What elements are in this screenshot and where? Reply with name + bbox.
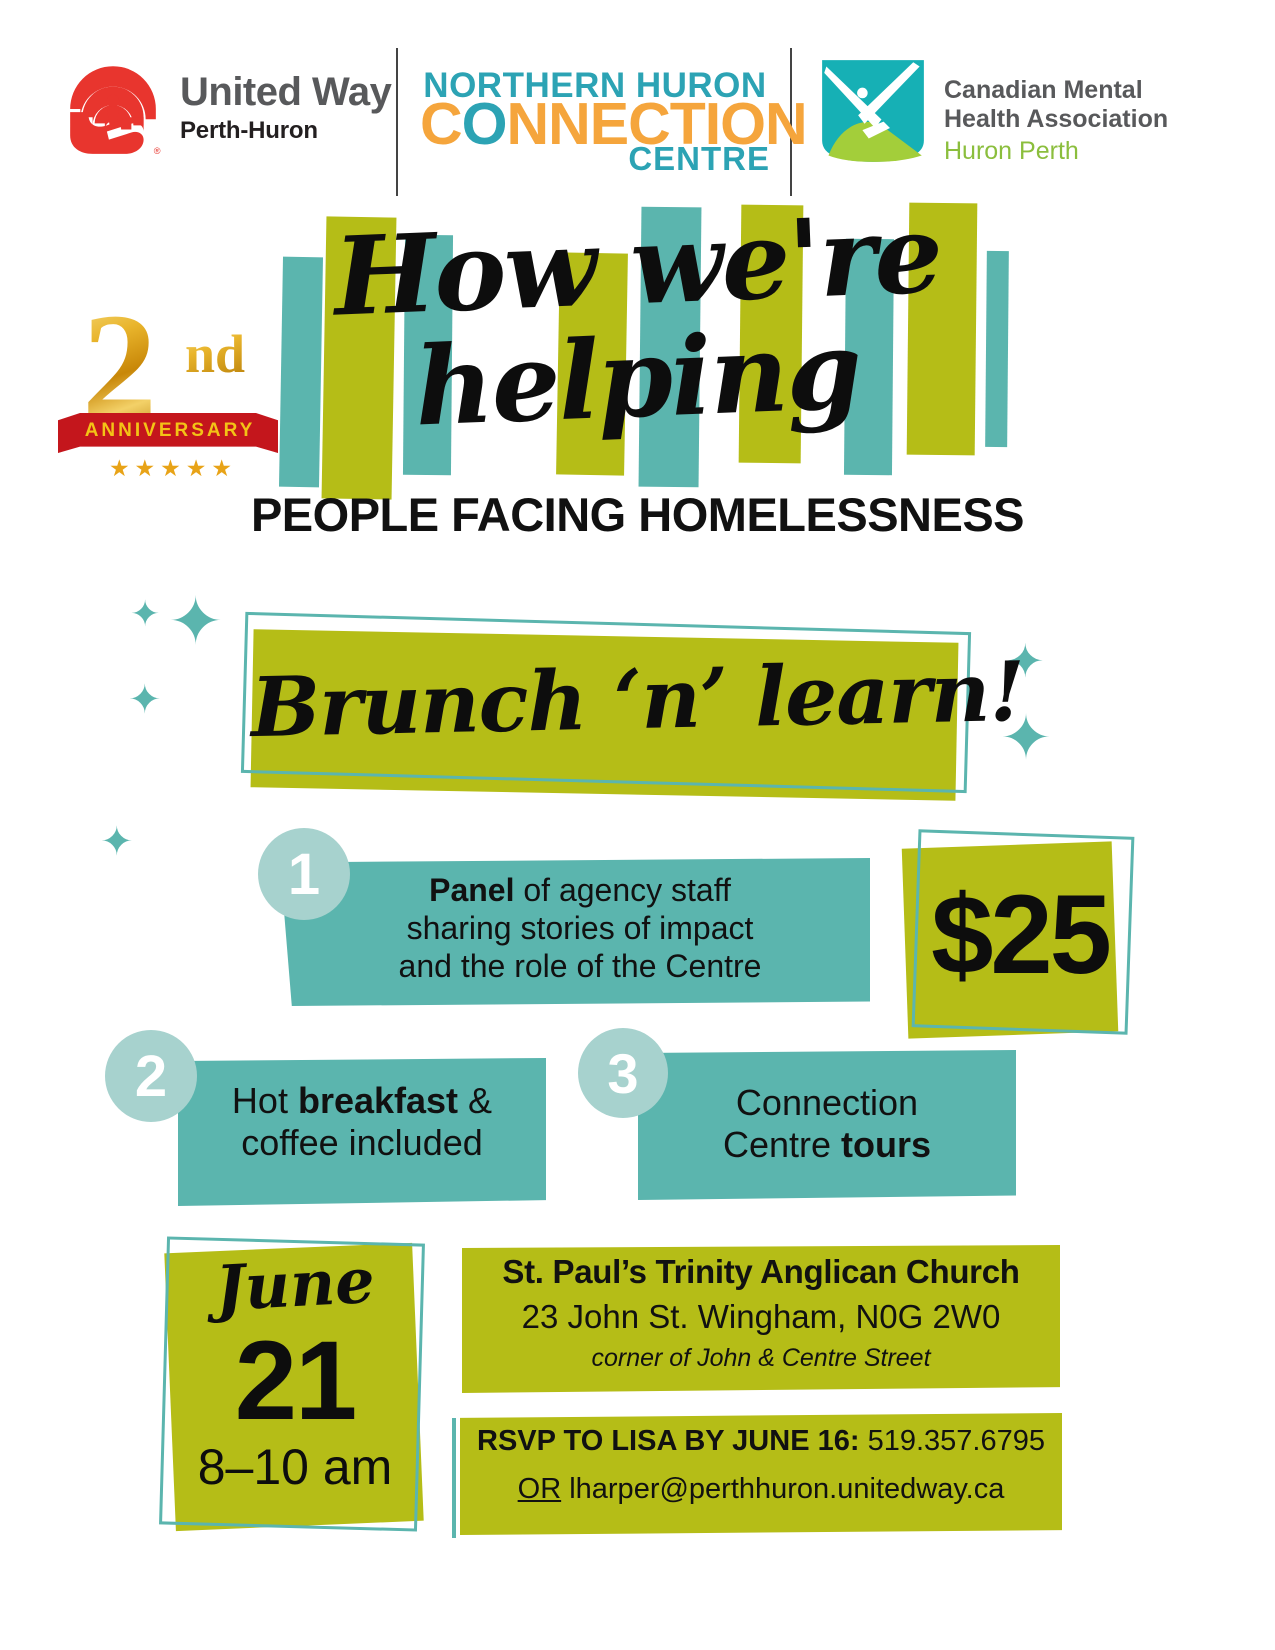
date-time: 8–10 am: [170, 1438, 420, 1496]
item-2-line-1: Hot breakfast &: [178, 1080, 546, 1122]
price-amount: $25: [880, 870, 1160, 999]
svg-text:®: ®: [154, 146, 161, 156]
nhcc-c: C: [420, 91, 462, 157]
cmha-line2: Health Association: [944, 105, 1168, 134]
sparkle-icon-2: ✦: [168, 588, 223, 654]
venue-address: 23 John St. Wingham, N0G 2W0: [462, 1298, 1060, 1336]
venue-note: corner of John & Centre Street: [462, 1344, 1060, 1373]
event-title-block: ✦ ✦ ✦ ✦ ✦ ✦ Brunch ‘n’ learn!: [0, 600, 1275, 815]
rsvp-teal-accent: [452, 1418, 456, 1538]
item-3-number: 3: [607, 1041, 638, 1106]
rsvp-line-2: OR lharper@perthhuron.unitedway.ca: [460, 1473, 1062, 1506]
cmha-line3: Huron Perth: [944, 137, 1168, 166]
item-1-line-2: sharing stories of impact: [300, 910, 860, 948]
logo-cmha: Canadian Mental Health Association Huron…: [820, 58, 1168, 166]
united-way-title: United Way: [180, 72, 391, 112]
item-2-text: Hot breakfast & coffee included: [178, 1080, 546, 1165]
logo-divider-1: [396, 48, 398, 196]
cmha-figure-icon: [820, 58, 926, 164]
rsvp-label: RSVP TO LISA BY JUNE 16:: [477, 1425, 860, 1457]
item-2-line-2: coffee included: [178, 1122, 546, 1164]
logo-northern-huron-connection-centre: NORTHERN HURON CONNECTION CENTRE: [420, 70, 770, 175]
rsvp-line-1: RSVP TO LISA BY JUNE 16: 519.357.6795: [460, 1425, 1062, 1458]
logo-row: ® United Way Perth-Huron NORTHERN HURON …: [0, 48, 1275, 198]
date-day: 21: [175, 1316, 415, 1445]
item-1-line-3: and the role of the Centre: [300, 948, 860, 986]
united-way-hand-icon: ®: [62, 56, 164, 158]
item-2-number: 2: [135, 1043, 167, 1110]
headline-subtitle: PEOPLE FACING HOMELESSNESS: [0, 487, 1275, 542]
item-1-text: Panel of agency staff sharing stories of…: [300, 872, 860, 985]
rsvp-phone[interactable]: 519.357.6795: [868, 1425, 1045, 1457]
sparkle-icon-1: ✦: [130, 596, 160, 632]
rsvp-email[interactable]: lharper@perthhuron.unitedway.ca: [569, 1473, 1004, 1505]
item-1-line-1: Panel of agency staff: [300, 872, 860, 910]
venue-name: St. Paul’s Trinity Anglican Church: [462, 1253, 1060, 1291]
logo-united-way: ® United Way Perth-Huron: [62, 56, 391, 158]
nhcc-o-link-icon: O: [462, 91, 507, 157]
sparkle-icon-6: ✦: [100, 822, 134, 862]
cmha-line1: Canadian Mental: [944, 76, 1168, 105]
united-way-subtitle: Perth-Huron: [180, 119, 391, 143]
item-3-line-2: Centre tours: [638, 1124, 1016, 1166]
headline-block: How we're helping: [0, 215, 1275, 430]
rsvp-or: OR: [518, 1473, 562, 1505]
item-3-line-1: Connection: [638, 1082, 1016, 1124]
date-month: June: [173, 1242, 416, 1327]
poster-canvas: ® United Way Perth-Huron NORTHERN HURON …: [0, 0, 1275, 1650]
item-3-text: Connection Centre tours: [638, 1082, 1016, 1167]
